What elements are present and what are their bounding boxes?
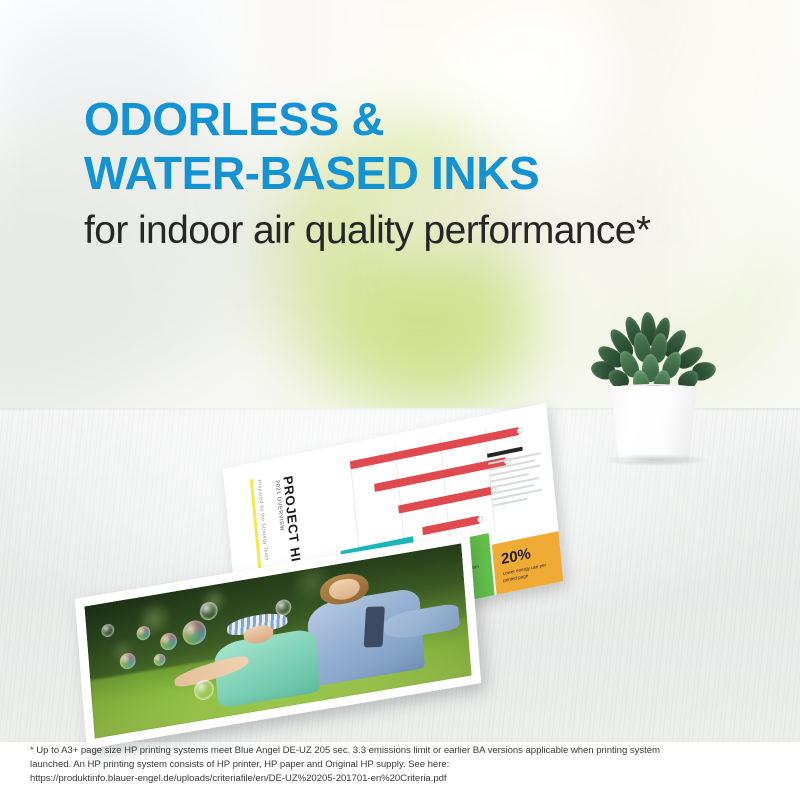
chart-bar-endpoint	[477, 516, 483, 523]
footnote-line-2: launched. An HP printing system consists…	[30, 758, 772, 772]
poster-canvas: Prepared by the Strategy Team 2021 OVERV…	[0, 0, 800, 800]
plant-pot	[608, 386, 700, 462]
chart-bar	[422, 516, 480, 536]
footnote-url: https://produktinfo.blauer-engel.de/uplo…	[30, 772, 772, 786]
footnote: * Up to A3+ page size HP printing system…	[30, 744, 772, 786]
plant-shadow	[602, 454, 708, 466]
chart-gridline	[349, 455, 360, 559]
chart-bar-endpoint	[517, 427, 523, 434]
headline-block: ODORLESS & WATER-BASED INKS for indoor a…	[84, 92, 764, 254]
brochure-sidebar-text	[487, 443, 547, 511]
page-subtitle: for indoor air quality performance*	[84, 208, 764, 254]
succulent-plant	[594, 312, 716, 428]
chart-gridline	[394, 446, 405, 550]
footnote-line-1: * Up to A3+ page size HP printing system…	[30, 744, 772, 758]
page-title: ODORLESS & WATER-BASED INKS	[84, 92, 764, 200]
